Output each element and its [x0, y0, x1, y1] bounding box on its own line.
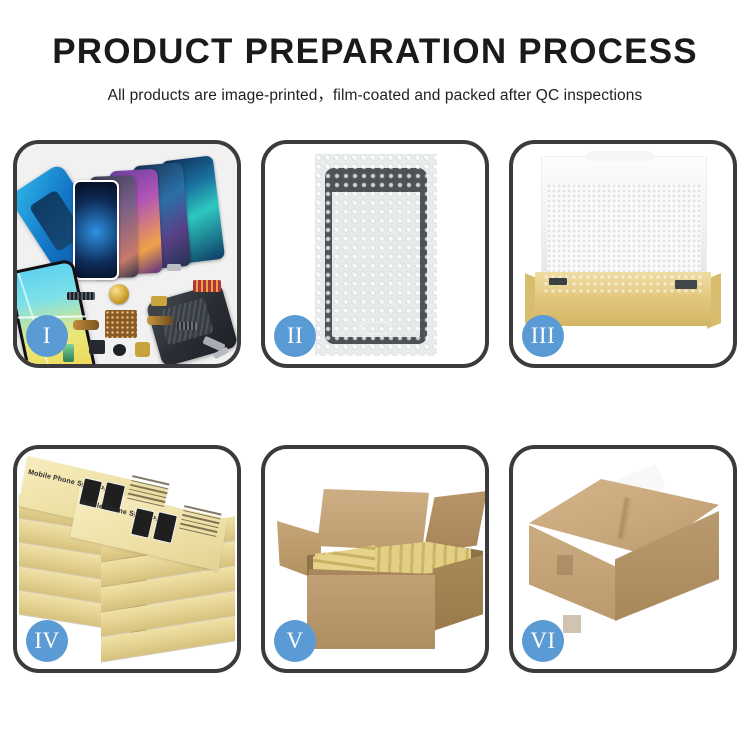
spare-part-graphic — [151, 296, 167, 306]
carton-tab-graphic — [563, 615, 581, 633]
spare-part-graphic — [89, 340, 105, 354]
page-title: PRODUCT PREPARATION PROCESS — [0, 34, 750, 69]
copper-grid-part-graphic — [105, 310, 137, 338]
step-badge-2: II — [274, 315, 316, 357]
process-step-grid: I II III — [13, 140, 737, 673]
spare-part-graphic — [135, 342, 150, 357]
carton-front-face — [307, 575, 435, 649]
process-step-4[interactable]: Mobile Phone Spare Parts Mobile Phone Sp… — [13, 445, 241, 673]
inner-box-front-face — [535, 294, 711, 326]
wrapped-screen-graphic — [325, 168, 427, 344]
connector-chip-graphic — [193, 280, 221, 292]
process-step-6[interactable]: VI — [509, 445, 737, 673]
carton-tab-graphic — [557, 555, 573, 575]
page-header: PRODUCT PREPARATION PROCESS All products… — [0, 0, 750, 105]
spare-part-graphic — [67, 292, 95, 300]
process-step-3[interactable]: III — [509, 140, 737, 368]
spare-part-graphic — [177, 322, 197, 330]
bubble-film-graphic — [315, 154, 437, 356]
step-badge-4: IV — [26, 620, 68, 662]
step-badge-5: V — [274, 620, 316, 662]
page-subtitle: All products are image-printed，film-coat… — [0, 83, 750, 105]
spare-part-graphic — [73, 320, 99, 330]
phone-screen-graphic — [73, 180, 119, 280]
spare-part-graphic — [147, 316, 173, 325]
step-badge-3: III — [522, 315, 564, 357]
process-step-2[interactable]: II — [261, 140, 489, 368]
gold-coil-part-graphic — [109, 284, 129, 304]
spare-part-graphic — [113, 344, 126, 356]
process-step-1[interactable]: I — [13, 140, 241, 368]
process-step-5[interactable]: V — [261, 445, 489, 673]
step-badge-1: I — [26, 315, 68, 357]
carton-back-flap — [317, 489, 429, 551]
spare-part-graphic — [167, 264, 181, 271]
foam-padding-graphic — [547, 184, 701, 272]
step-badge-6: VI — [522, 620, 564, 662]
